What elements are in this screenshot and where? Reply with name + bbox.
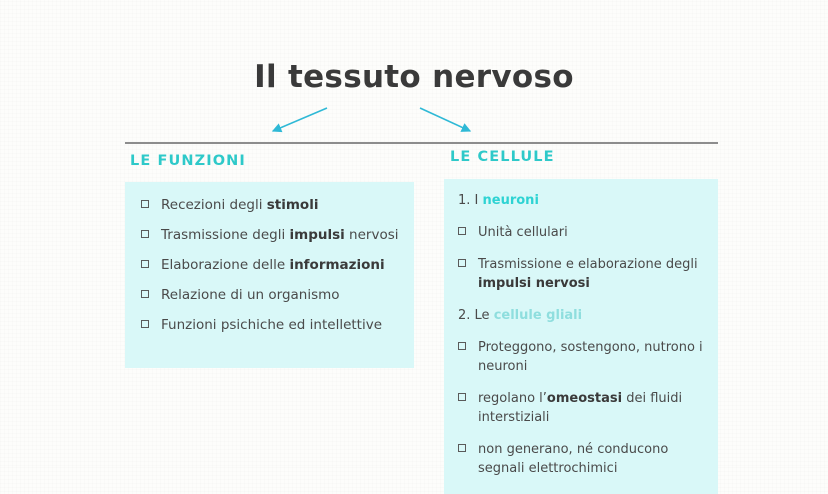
- list-item-number: 1.: [458, 193, 470, 208]
- emphasis-text: informazioni: [289, 257, 384, 273]
- list-item: Trasmissione degli impulsi nervosi: [137, 226, 402, 245]
- square-bullet-icon: [458, 342, 466, 350]
- list-item: Relazione di un organismo: [137, 286, 402, 305]
- list-item: non generano, né conducono segnali elett…: [454, 440, 708, 478]
- list-item-text: Elaborazione delle: [161, 257, 289, 273]
- list-item: Elaborazione delle informazioni: [137, 256, 402, 275]
- left-column-heading: LE FUNZIONI: [130, 152, 417, 170]
- list-item-text: Recezioni degli: [161, 197, 267, 213]
- list-item-text: nervosi: [345, 227, 399, 243]
- left-column-panel: Recezioni degli stimoliTrasmissione degl…: [125, 182, 414, 368]
- square-bullet-icon: [141, 230, 149, 238]
- list-item-text: Unità cellulari: [478, 225, 568, 240]
- list-item-text: Le: [470, 308, 493, 323]
- square-bullet-icon: [458, 259, 466, 267]
- square-bullet-icon: [141, 200, 149, 208]
- list-item: Funzioni psichiche ed intellettive: [137, 316, 402, 335]
- accent-term: neuroni: [483, 193, 539, 208]
- right-column: LE CELLULE 1. I neuroniUnità cellulariTr…: [444, 148, 718, 494]
- list-item-numbered: 1. I neuroni: [454, 191, 708, 210]
- list-item: Recezioni degli stimoli: [137, 196, 402, 215]
- list-item-text: I: [470, 193, 482, 208]
- square-bullet-icon: [141, 290, 149, 298]
- list-item: regolano l’omeostasi dei fluidi intersti…: [454, 389, 708, 427]
- list-item-text: Proteggono, sostengono, nutrono i neuron…: [478, 340, 703, 374]
- arrow-to-left-column: [273, 108, 327, 131]
- list-item-number: 2.: [458, 308, 470, 323]
- horizontal-divider: [125, 142, 718, 144]
- list-item-numbered: 2. Le cellule gliali: [454, 306, 708, 325]
- square-bullet-icon: [458, 393, 466, 401]
- page-title: Il tessuto nervoso: [0, 58, 828, 96]
- list-item-text: Trasmissione e elaborazione degli: [478, 257, 698, 272]
- list-item: Trasmissione e elaborazione degli impuls…: [454, 255, 708, 293]
- right-column-heading: LE CELLULE: [450, 148, 718, 166]
- emphasis-text: impulsi nervosi: [478, 276, 590, 291]
- list-item: Unità cellulari: [454, 223, 708, 242]
- arrow-to-right-column: [420, 108, 470, 131]
- emphasis-text: omeostasi: [547, 391, 622, 406]
- list-item: Proteggono, sostengono, nutrono i neuron…: [454, 338, 708, 376]
- list-item-text: Funzioni psichiche ed intellettive: [161, 317, 382, 333]
- slide-root: Il tessuto nervoso LE FUNZIONI Recezioni…: [0, 0, 828, 466]
- right-column-panel: 1. I neuroniUnità cellulariTrasmissione …: [444, 179, 718, 494]
- emphasis-text: impulsi: [290, 227, 345, 243]
- list-item-text: regolano l’: [478, 391, 547, 406]
- emphasis-text: stimoli: [267, 197, 319, 213]
- square-bullet-icon: [458, 444, 466, 452]
- list-item-text: Relazione di un organismo: [161, 287, 340, 303]
- list-item-text: Trasmissione degli: [161, 227, 290, 243]
- right-bullet-list: 1. I neuroniUnità cellulariTrasmissione …: [454, 191, 708, 478]
- left-bullet-list: Recezioni degli stimoliTrasmissione degl…: [137, 196, 402, 335]
- square-bullet-icon: [141, 260, 149, 268]
- accent-term-soft: cellule gliali: [494, 308, 582, 323]
- list-item-text: non generano, né conducono segnali elett…: [478, 442, 668, 476]
- square-bullet-icon: [141, 320, 149, 328]
- square-bullet-icon: [458, 227, 466, 235]
- left-column: LE FUNZIONI Recezioni degli stimoliTrasm…: [125, 152, 417, 368]
